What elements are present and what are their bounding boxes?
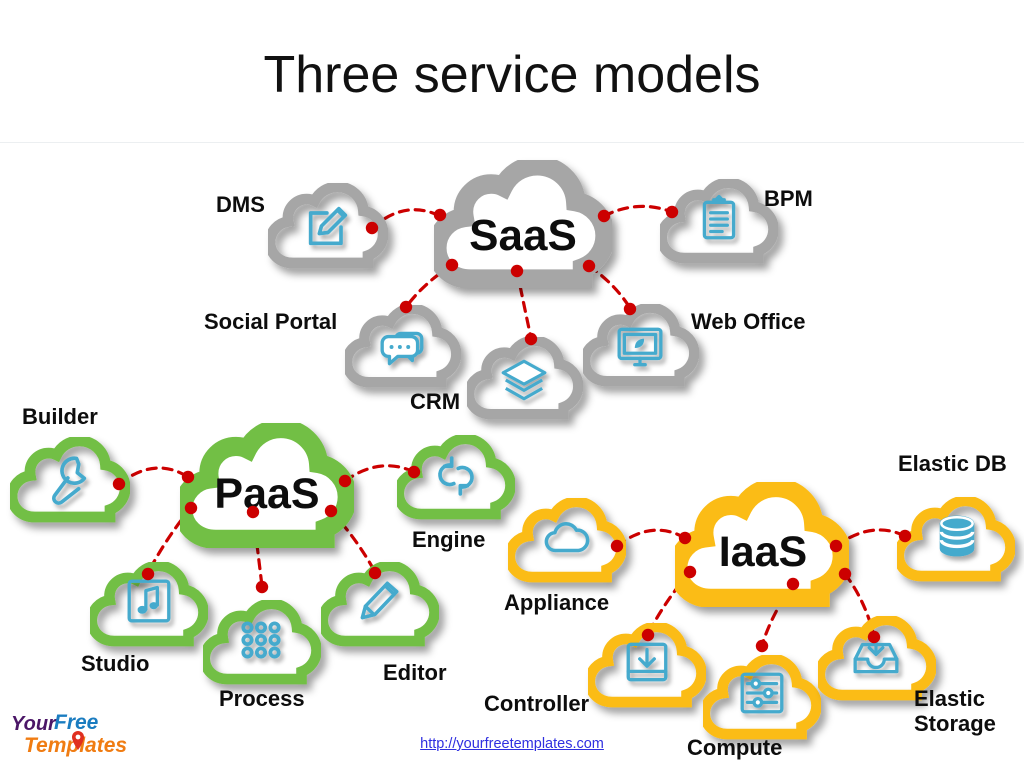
dot-web-office [624, 303, 636, 315]
dot-iaas-right [830, 540, 842, 552]
wrench-icon [54, 457, 86, 503]
dot-social-portal [400, 301, 412, 313]
music-note-icon [129, 581, 169, 621]
dot-paas-left [182, 471, 194, 483]
dot-saas-right [598, 210, 610, 222]
cluster-paas: PaaS [12, 429, 510, 680]
hub-label-iaas: IaaS [719, 528, 807, 576]
dot-elastic-db [899, 530, 911, 542]
dot-paas-right [339, 475, 351, 487]
label-editor: Editor [383, 661, 447, 686]
label-process: Process [219, 687, 305, 712]
node-compute[interactable] [705, 659, 817, 734]
dot-elastic-storage [868, 631, 880, 643]
dot-builder [113, 478, 125, 490]
label-engine: Engine [412, 528, 485, 553]
dot-paas-bottom [247, 506, 259, 518]
diagram-canvas: SaaS [0, 0, 1024, 767]
dot-bpm [666, 206, 678, 218]
label-studio: Studio [81, 652, 149, 677]
connector-dot-group [113, 206, 911, 652]
dot-compute [756, 640, 768, 652]
dot-engine [408, 466, 420, 478]
cloud-icon [546, 524, 587, 551]
dot-iaas-bottom [787, 578, 799, 590]
dot-saas-bottom [511, 265, 523, 277]
hub-iaas[interactable]: IaaS [678, 488, 842, 599]
dot-iaas-left [679, 532, 691, 544]
dot-appliance [611, 540, 623, 552]
node-elastic-db[interactable] [899, 501, 1011, 576]
node-process[interactable] [205, 604, 317, 679]
document-edit-icon [311, 209, 346, 244]
hub-saas[interactable]: SaaS [437, 166, 605, 279]
yourfreetemplates-logo: Your Free Templates [8, 708, 158, 762]
monitor-icon [619, 329, 661, 364]
node-web-office[interactable] [585, 308, 694, 382]
logo-word-your: Your [11, 713, 57, 735]
slide-root: Three service models [0, 0, 1024, 767]
dot-studio [142, 568, 154, 580]
label-dms: DMS [216, 193, 265, 218]
dot-controller [642, 629, 654, 641]
node-social-portal[interactable] [347, 309, 456, 383]
dot-iaas-bottomright [839, 568, 851, 580]
label-social-portal: Social Portal [204, 310, 337, 335]
pencil-icon [362, 583, 396, 617]
label-crm: CRM [410, 390, 460, 415]
label-elastic-db: Elastic DB [898, 452, 1007, 477]
clipboard-icon [704, 197, 733, 238]
dot-saas-bottomright [583, 260, 595, 272]
dot-iaas-bottomleft [684, 566, 696, 578]
connector-saas-bpm [604, 206, 672, 216]
dot-paas-bottomleft [185, 502, 197, 514]
dot-saas-left [434, 209, 446, 221]
download-box-icon [628, 644, 666, 679]
dot-process [256, 581, 268, 593]
label-controller: Controller [484, 692, 589, 717]
sync-arrows-icon [440, 458, 472, 494]
sliders-panel-icon [742, 674, 782, 712]
logo-word-free: Free [54, 711, 99, 734]
connector-iaas-appliance [617, 530, 685, 546]
site-url-link[interactable]: http://yourfreetemplates.com [0, 736, 1024, 752]
hub-paas[interactable]: PaaS [183, 429, 347, 540]
node-crm[interactable] [469, 341, 578, 415]
layers-stack-icon [503, 361, 545, 399]
label-web-office: Web Office [691, 310, 806, 335]
dot-crm [525, 333, 537, 345]
label-elastic-storage: Elastic Storage [914, 687, 1010, 736]
node-builder[interactable] [12, 441, 125, 517]
node-bpm[interactable] [662, 183, 774, 258]
database-icon [941, 517, 972, 555]
hub-label-saas: SaaS [469, 211, 577, 260]
label-appliance: Appliance [504, 591, 609, 616]
dot-editor [369, 567, 381, 579]
hub-label-paas: PaaS [214, 470, 319, 518]
chat-bubbles-icon [382, 333, 422, 363]
node-appliance[interactable] [510, 502, 622, 577]
dot-saas-bottomleft [446, 259, 458, 271]
label-bpm: BPM [764, 187, 813, 212]
dot-dms [366, 222, 378, 234]
dot-paas-bottomright [325, 505, 337, 517]
label-builder: Builder [22, 405, 98, 430]
node-dms[interactable] [270, 187, 383, 263]
dot-grid-icon [243, 623, 278, 656]
